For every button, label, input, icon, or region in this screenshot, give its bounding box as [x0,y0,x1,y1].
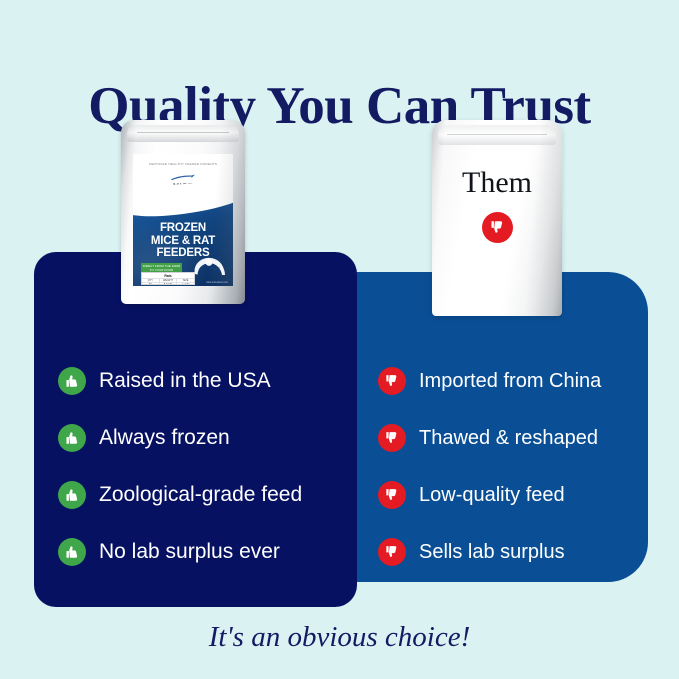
thumbs-down-icon [482,212,513,243]
swoosh-icon [170,174,196,181]
green-banner: DIRECT FROM THE FARM TO YOUR DOOR [141,263,182,272]
bag-body: CERTIFIED HEALTHY FEEDER RODENTS MICE DI… [121,120,245,304]
product-name-line2: MICE & RAT [133,235,233,248]
list-item: No lab surplus ever [58,523,358,580]
comparison-infographic: Quality You Can Trust CERTIFIED HEALTHY … [0,0,679,679]
bag-body: Them [432,120,562,316]
thumbs-up-glyph [64,543,81,560]
feature-label: Imported from China [419,369,601,393]
mouse-illustration: Pups [189,252,229,283]
bag-top-seal [438,125,556,145]
list-item: Imported from China [378,352,658,409]
mouse-caption: Pups [210,266,220,271]
thumbs-up-glyph [64,372,81,389]
feature-label: Always frozen [99,426,230,450]
spec-table: Rats QTY WEIGHT SIZE 50 5-9 GM 1-2 IN [141,272,195,285]
our-feature-list: Raised in the USA Always frozen Zoologic… [58,352,358,580]
list-item: Low-quality feed [378,466,658,523]
product-label: CERTIFIED HEALTHY FEEDER RODENTS MICE DI… [133,154,233,286]
feature-label: Low-quality feed [419,483,565,507]
thumbs-down-icon [378,538,406,566]
list-item: Always frozen [58,409,358,466]
feature-label: Raised in the USA [99,369,271,393]
thumbs-down-glyph [384,487,400,503]
thumbs-up-icon [58,481,86,509]
feature-label: Zoological-grade feed [99,483,302,507]
spec-header-row: QTY WEIGHT SIZE [142,278,194,282]
thumbs-down-glyph [489,219,506,236]
thumbs-up-icon [58,367,86,395]
label-tagline: CERTIFIED HEALTHY FEEDER RODENTS [133,162,233,166]
thumbs-down-glyph [384,373,400,389]
spec-value-cell: 1-2 IN [177,283,194,285]
list-item: Sells lab surplus [378,523,658,580]
thumbs-up-glyph [64,429,81,446]
thumbs-down-icon [378,367,406,395]
spec-header-cell: WEIGHT [160,279,178,282]
feature-label: No lab surplus ever [99,540,280,564]
thumbs-up-icon [58,538,86,566]
spec-header-cell: QTY [142,279,160,282]
spec-value-cell: 50 [142,283,160,285]
spec-value-cell: 5-9 GM [160,283,178,285]
thumbs-up-icon [58,424,86,452]
competitor-product-bag: Them [432,120,562,316]
thumbs-down-icon [378,481,406,509]
brand-url: www.micedirect.com [206,281,228,284]
bag-top-seal [127,125,239,142]
competitor-bag-title: Them [432,167,562,199]
thumbs-down-glyph [384,544,400,560]
list-item: Zoological-grade feed [58,466,358,523]
page-title: Quality You Can Trust [0,76,679,136]
our-product-bag: CERTIFIED HEALTHY FEEDER RODENTS MICE DI… [121,120,245,304]
mouse-icon [189,252,229,278]
thumbs-down-icon [378,424,406,452]
spec-value-row: 50 5-9 GM 1-2 IN [142,282,194,285]
list-item: Thawed & reshaped [378,409,658,466]
product-name-line1: FROZEN [133,222,233,235]
feature-label: Thawed & reshaped [419,426,598,450]
competitor-feature-list: Imported from China Thawed & reshaped Lo… [378,352,658,580]
list-item: Raised in the USA [58,352,358,409]
feature-label: Sells lab surplus [419,540,565,564]
closing-tagline: It's an obvious choice! [0,620,679,654]
thumbs-down-glyph [384,430,400,446]
thumbs-up-glyph [64,486,81,503]
